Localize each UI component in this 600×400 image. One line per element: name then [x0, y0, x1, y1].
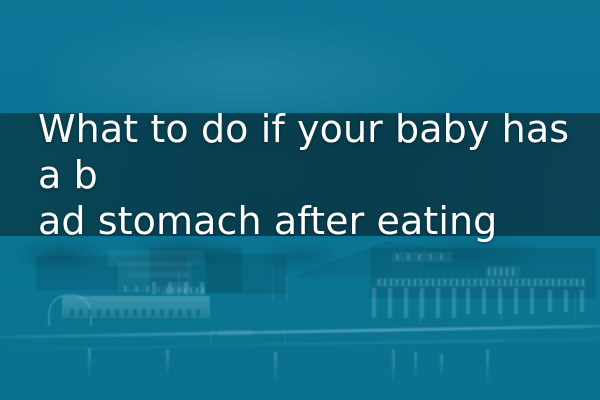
article-thumbnail-card[interactable]: What to do if your baby has a b ad stoma… — [0, 0, 600, 400]
article-title: What to do if your baby has a b ad stoma… — [38, 106, 586, 244]
title-overlay-band: What to do if your baby has a b ad stoma… — [0, 113, 600, 236]
